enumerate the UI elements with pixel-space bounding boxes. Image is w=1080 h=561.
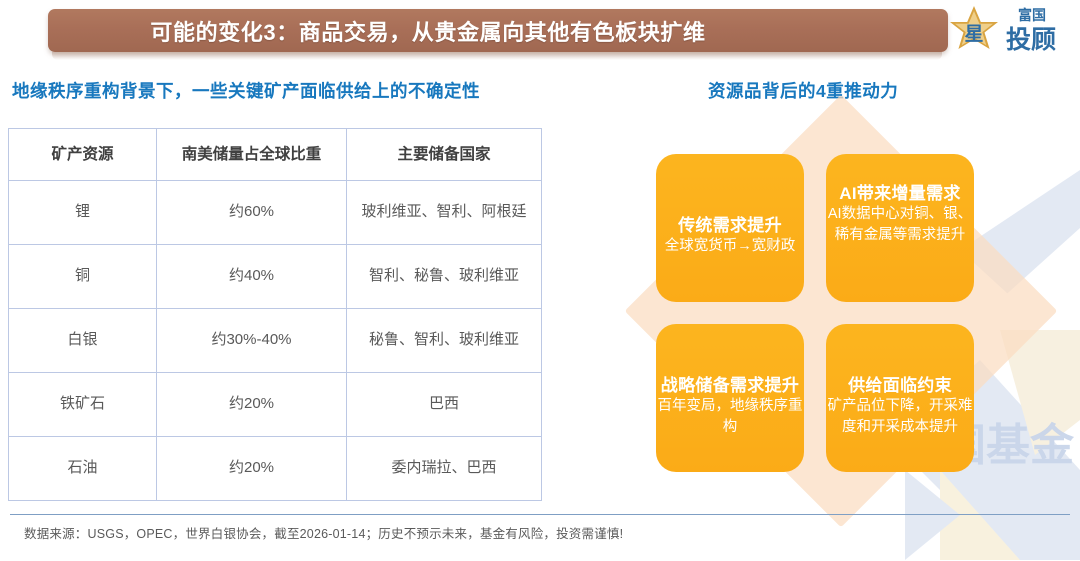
cell-resource: 石油 [9,437,157,501]
cell-countries: 秘鲁、智利、玻利维亚 [347,309,542,373]
cell-countries: 委内瑞拉、巴西 [347,437,542,501]
logo-star-glyph: 星 [964,23,983,45]
page-title: 可能的变化3：商品交易，从贵金属向其他有色板块扩维 [48,9,948,52]
driver-card-desc: AI数据中心对铜、银、稀有金属等需求提升 [825,204,975,245]
cell-resource: 铜 [9,245,157,309]
driver-card-ai-demand: AI带来增量需求 AI数据中心对铜、银、稀有金属等需求提升 [826,154,974,302]
driver-card-supply-constraint: 供给面临约束 矿产品位下降，开采难度和开采成本提升 [826,324,974,472]
right-section-heading: 资源品背后的4重推动力 [708,78,898,103]
title-bar: 可能的变化3：商品交易，从贵金属向其他有色板块扩维 [48,9,948,52]
footer-divider [10,514,1070,515]
cell-share: 约40% [157,245,347,309]
cell-countries: 智利、秘鲁、玻利维亚 [347,245,542,309]
cell-share: 约20% [157,437,347,501]
cell-resource: 锂 [9,181,157,245]
driver-card-title: AI带来增量需求 [839,183,960,204]
column-header-countries: 主要储备国家 [347,129,542,181]
drivers-diagram: 传统需求提升 全球宽货币→宽财政 AI带来增量需求 AI数据中心对铜、银、稀有金… [630,110,1050,510]
cell-resource: 铁矿石 [9,373,157,437]
driver-card-title: 供给面临约束 [848,375,952,396]
column-header-resource: 矿产资源 [9,129,157,181]
table-row: 锂 约60% 玻利维亚、智利、阿根廷 [9,181,542,245]
footer-source-note: 数据来源：USGS，OPEC，世界白银协会，截至2026-01-14；历史不预示… [24,523,623,542]
driver-card-desc: 百年变局，地缘秩序重构 [655,396,805,437]
cell-countries: 巴西 [347,373,542,437]
cell-share: 约20% [157,373,347,437]
column-header-share: 南美储量占全球比重 [157,129,347,181]
driver-card-traditional-demand: 传统需求提升 全球宽货币→宽财政 [656,154,804,302]
cell-share: 约60% [157,181,347,245]
driver-card-desc: 矿产品位下降，开采难度和开采成本提升 [825,396,975,437]
logo-brand-main: 投顾 [1006,25,1056,54]
table-row: 铜 约40% 智利、秘鲁、玻利维亚 [9,245,542,309]
table-header-row: 矿产资源 南美储量占全球比重 主要储备国家 [9,129,542,181]
cell-share: 约30%-40% [157,309,347,373]
driver-card-title: 战略储备需求提升 [661,375,799,396]
brand-logo: 星 富国 投顾 [948,2,1066,58]
title-bar-shadow [52,52,942,60]
cell-resource: 白银 [9,309,157,373]
star-icon: 星 [950,6,998,49]
minerals-table: 矿产资源 南美储量占全球比重 主要储备国家 锂 约60% 玻利维亚、智利、阿根廷… [8,128,542,501]
cell-countries: 玻利维亚、智利、阿根廷 [347,181,542,245]
driver-card-strategic-reserve: 战略储备需求提升 百年变局，地缘秩序重构 [656,324,804,472]
slide-canvas: 国基金 可能的变化3：商品交易，从贵金属向其他有色板块扩维 星 富国 投顾 地缘… [0,0,1080,561]
left-section-heading: 地缘秩序重构背景下，一些关键矿产面临供给上的不确定性 [12,78,480,103]
driver-card-title: 传统需求提升 [678,215,782,236]
logo-brand-top: 富国 [1018,7,1046,23]
table-row: 铁矿石 约20% 巴西 [9,373,542,437]
driver-card-desc: 全球宽货币→宽财政 [665,236,796,257]
table-row: 石油 约20% 委内瑞拉、巴西 [9,437,542,501]
table-row: 白银 约30%-40% 秘鲁、智利、玻利维亚 [9,309,542,373]
